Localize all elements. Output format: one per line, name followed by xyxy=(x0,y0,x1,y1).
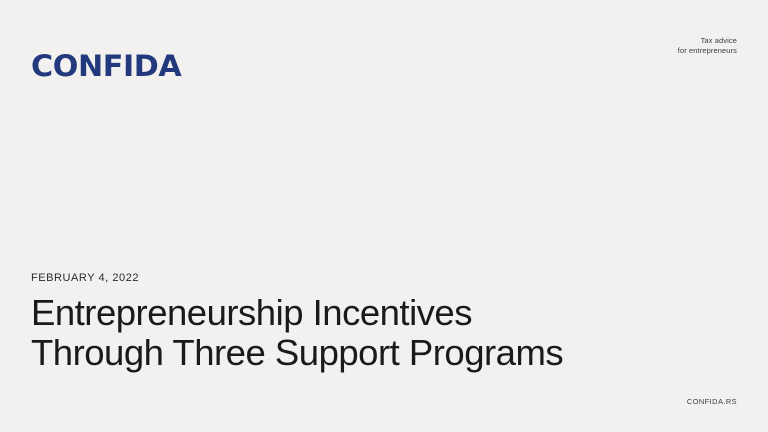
footer-website-url: CONFIDA.RS xyxy=(687,397,737,406)
tagline-line-1: Tax advice xyxy=(678,36,737,46)
brand-tagline: Tax advice for entrepreneurs xyxy=(678,36,737,55)
confida-logo: CONFIDA xyxy=(31,52,181,81)
page-title-line-2: Through Three Support Programs xyxy=(31,333,681,373)
presentation-slide: CONFIDA Tax advice for entrepreneurs FEB… xyxy=(0,0,768,432)
page-title: Entrepreneurship Incentives Through Thre… xyxy=(31,293,681,373)
page-title-line-1: Entrepreneurship Incentives xyxy=(31,293,681,333)
tagline-line-2: for entrepreneurs xyxy=(678,46,737,56)
slide-title-block: FEBRUARY 4, 2022 Entrepreneurship Incent… xyxy=(31,271,681,373)
slide-date: FEBRUARY 4, 2022 xyxy=(31,271,681,285)
